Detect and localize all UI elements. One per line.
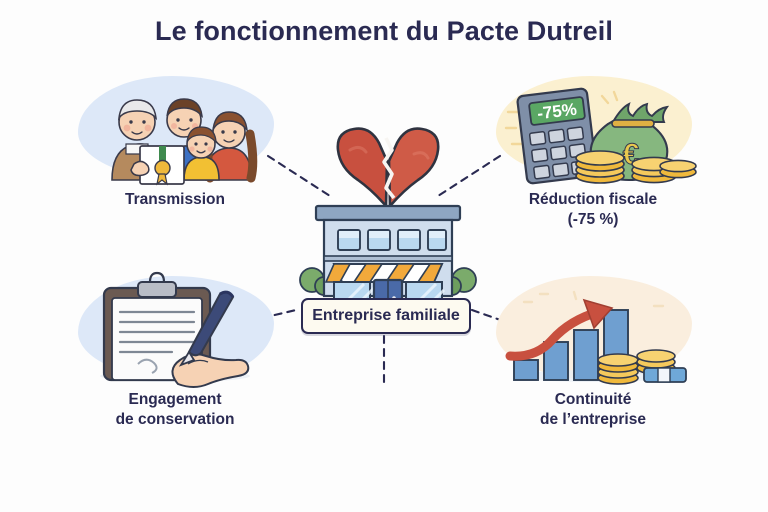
page-title: Le fonctionnement du Pacte Dutreil	[0, 16, 768, 47]
label-line: (-75 %)	[478, 210, 708, 230]
continuite-art	[478, 272, 708, 384]
label-line: Transmission	[60, 190, 290, 210]
label-line: de conservation	[60, 410, 290, 430]
transmission-art	[60, 72, 290, 184]
quadrant-label-engagement-conservation: Engagement de conservation	[60, 390, 290, 431]
engagement-art	[60, 272, 290, 384]
clipboard-signature-icon	[60, 272, 290, 384]
quadrant-label-reduction-fiscale: Réduction fiscale (-75 %)	[478, 190, 708, 231]
quadrant-label-transmission: Transmission	[60, 190, 290, 210]
broken-heart-icon	[338, 129, 438, 206]
label-line: Réduction fiscale	[478, 190, 708, 210]
quadrant-reduction-fiscale[interactable]: -75%	[478, 72, 708, 231]
center-illustration	[290, 128, 486, 300]
calculator-money-icon: -75%	[478, 72, 708, 184]
center-label-box[interactable]: Entreprise familiale	[301, 298, 471, 334]
center-label-text: Entreprise familiale	[312, 307, 460, 325]
quadrant-transmission[interactable]: Transmission	[60, 72, 290, 210]
bar-3	[574, 330, 598, 380]
quadrant-engagement-conservation[interactable]: Engagement de conservation	[60, 272, 290, 431]
growth-chart-money-icon	[478, 272, 708, 384]
quadrant-label-continuite-entreprise: Continuité de l’entreprise	[478, 390, 708, 431]
family-business-building-icon	[316, 206, 460, 312]
family-certificate-icon	[60, 72, 290, 184]
bar-1	[514, 360, 538, 380]
label-line: Continuité	[478, 390, 708, 410]
label-line: Engagement	[60, 390, 290, 410]
quadrant-continuite-entreprise[interactable]: Continuité de l’entreprise	[478, 272, 708, 431]
infographic-canvas: Le fonctionnement du Pacte Dutreil	[0, 0, 768, 512]
label-line: de l’entreprise	[478, 410, 708, 430]
reduction-fiscale-art: -75%	[478, 72, 708, 184]
banknote-bundle-icon	[644, 368, 686, 382]
